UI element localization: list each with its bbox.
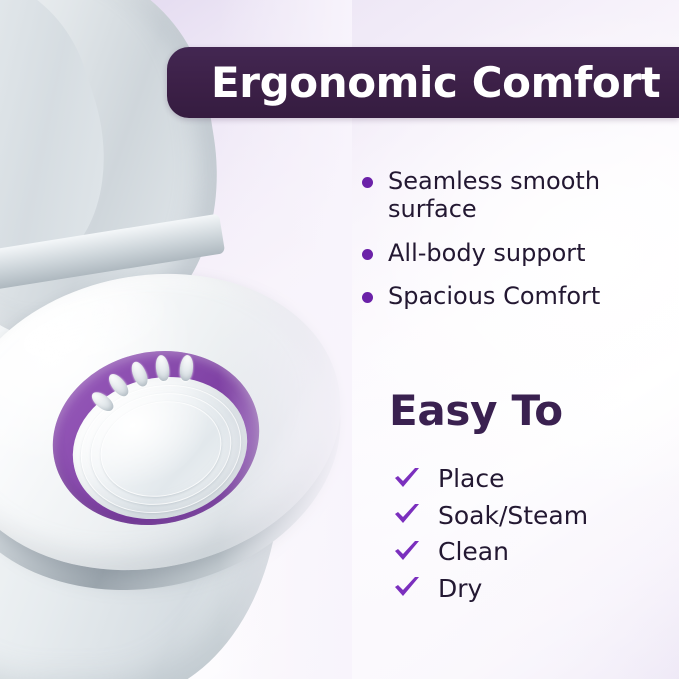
easy-to-heading: Easy To <box>389 390 563 432</box>
list-item: Place <box>392 465 672 493</box>
feature-label: All-body support <box>388 240 586 268</box>
feature-label: Spacious Comfort <box>388 283 600 311</box>
easy-to-label: Clean <box>438 538 509 566</box>
list-item: Soak/Steam <box>392 502 672 530</box>
check-icon <box>392 466 422 492</box>
feature-label: Seamless smooth surface <box>388 168 672 224</box>
easy-to-label: Place <box>438 465 504 493</box>
bullet-dot-icon <box>362 249 373 260</box>
easy-to-label: Dry <box>438 575 482 603</box>
check-icon <box>392 539 422 565</box>
check-icon <box>392 575 422 601</box>
list-item: Seamless smooth surface <box>362 168 672 224</box>
list-item: Clean <box>392 538 672 566</box>
feature-list: Seamless smooth surface All-body support… <box>362 168 672 327</box>
easy-to-list: Place Soak/Steam Clean <box>392 465 672 611</box>
list-item: Dry <box>392 575 672 603</box>
product-infographic: Ergonomic Comfort Seamless smooth surfac… <box>0 0 679 679</box>
bullet-dot-icon <box>362 177 373 188</box>
check-icon <box>392 502 422 528</box>
list-item: All-body support <box>362 240 672 268</box>
banner-title: Ergonomic Comfort <box>211 62 660 104</box>
easy-to-label: Soak/Steam <box>438 502 588 530</box>
bullet-dot-icon <box>362 292 373 303</box>
header-banner: Ergonomic Comfort <box>167 47 679 118</box>
list-item: Spacious Comfort <box>362 283 672 311</box>
